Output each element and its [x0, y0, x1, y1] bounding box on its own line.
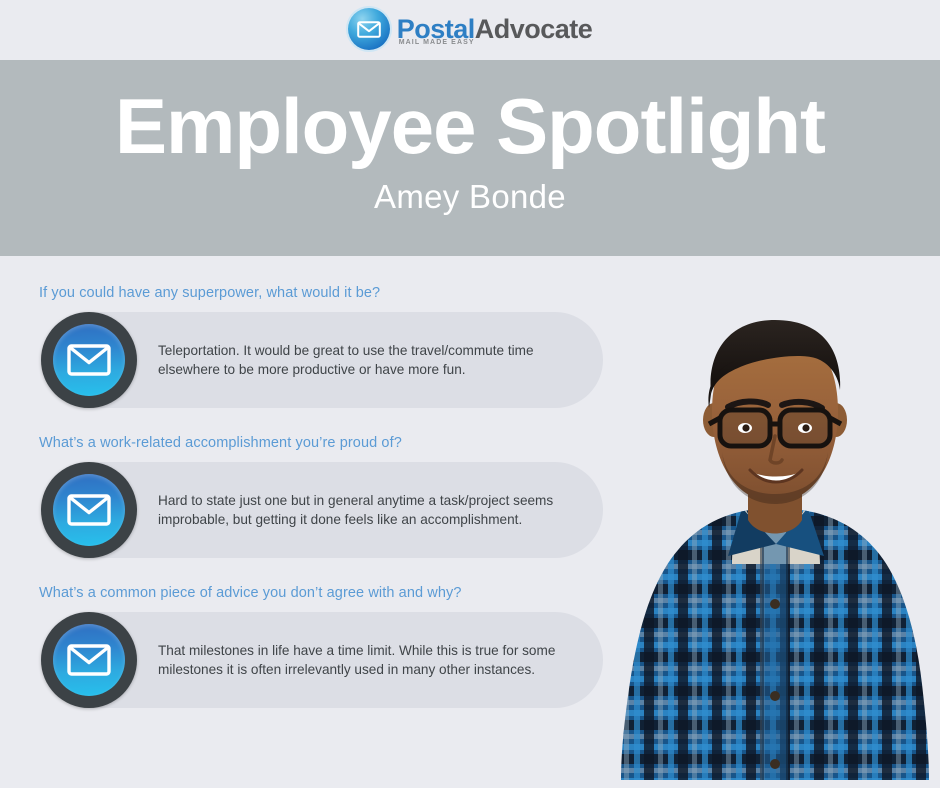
- brand-tagline: MAIL MADE EASY: [399, 39, 475, 46]
- brand-name-part2: Advocate: [475, 14, 593, 44]
- envelope-icon-inner: [53, 324, 125, 396]
- qa-block: What’s a common piece of advice you don’…: [0, 585, 940, 708]
- qa-answer-text: That milestones in life have a time limi…: [158, 641, 569, 680]
- employee-name: Amey Bonde: [0, 168, 940, 216]
- brand-header: PostalAdvocate MAIL MADE EASY: [0, 0, 940, 60]
- qa-answer-text: Hard to state just one but in general an…: [158, 491, 569, 530]
- envelope-circle-icon: [348, 8, 390, 50]
- postal-advocate-logo: PostalAdvocate MAIL MADE EASY: [348, 8, 593, 50]
- spotlight-banner: Employee Spotlight Amey Bonde: [0, 60, 940, 256]
- qa-list: If you could have any superpower, what w…: [0, 256, 940, 708]
- page-title: Employee Spotlight: [0, 60, 940, 168]
- qa-block: If you could have any superpower, what w…: [0, 285, 940, 408]
- qa-row: Teleportation. It would be great to use …: [42, 312, 603, 408]
- qa-question: What’s a work-related accomplishment you…: [39, 435, 940, 451]
- envelope-icon-inner: [53, 624, 125, 696]
- qa-question: What’s a common piece of advice you don’…: [39, 585, 940, 601]
- qa-question: If you could have any superpower, what w…: [39, 285, 940, 301]
- envelope-icon: [41, 312, 137, 408]
- bottom-strip: [0, 780, 940, 788]
- qa-block: What’s a work-related accomplishment you…: [0, 435, 940, 558]
- envelope-icon-inner: [53, 474, 125, 546]
- employee-spotlight-page: PostalAdvocate MAIL MADE EASY Employee S…: [0, 0, 940, 788]
- envelope-icon: [41, 612, 137, 708]
- qa-row: That milestones in life have a time limi…: [42, 612, 603, 708]
- envelope-icon: [41, 462, 137, 558]
- brand-wordmark: PostalAdvocate MAIL MADE EASY: [397, 16, 593, 43]
- qa-answer-text: Teleportation. It would be great to use …: [158, 341, 569, 380]
- qa-row: Hard to state just one but in general an…: [42, 462, 603, 558]
